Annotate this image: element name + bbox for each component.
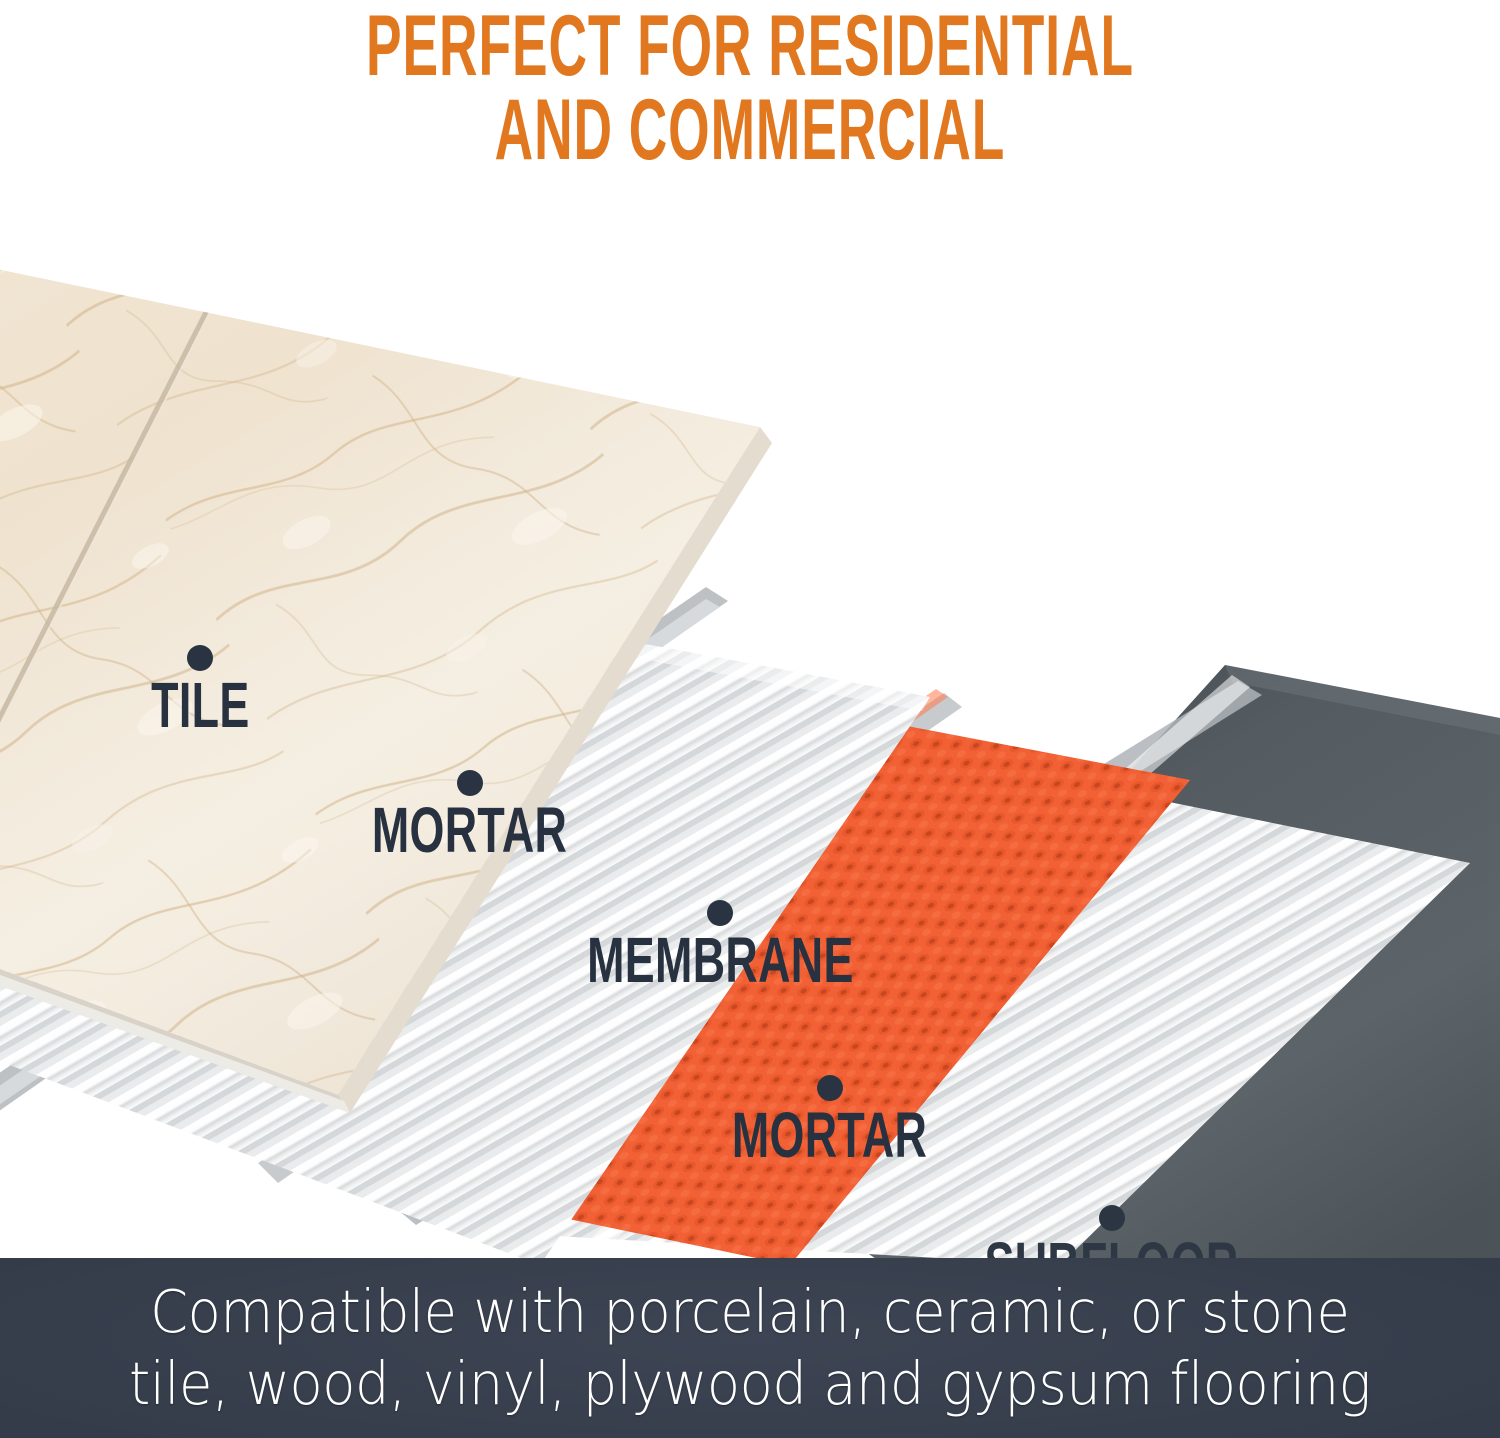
layer-cross-section-diagram: TILE MORTAR MEMBRANE MORTAR SUBFLOOR bbox=[0, 195, 1500, 1265]
label-dot-mortar-lower bbox=[817, 1075, 843, 1101]
label-mortar-upper: MORTAR bbox=[330, 770, 609, 860]
banner-line-1: Compatible with porcelain, ceramic, or s… bbox=[150, 1276, 1349, 1348]
label-subfloor: SUBFLOOR bbox=[930, 1205, 1293, 1265]
label-dot-membrane bbox=[707, 900, 733, 926]
headline-block: PERFECT FOR RESIDENTIAL AND COMMERCIAL bbox=[0, 0, 1500, 173]
banner-line-2: tile, wood, vinyl, plywood and gypsum fl… bbox=[129, 1348, 1371, 1420]
label-tile: TILE bbox=[130, 645, 271, 735]
label-text-mortar-upper: MORTAR bbox=[372, 802, 567, 860]
label-text-membrane: MEMBRANE bbox=[587, 932, 854, 990]
label-dot-subfloor bbox=[1099, 1205, 1125, 1231]
label-text-mortar-lower: MORTAR bbox=[732, 1107, 927, 1165]
headline-line-1: PERFECT FOR RESIDENTIAL bbox=[285, 4, 1215, 88]
label-dot-tile bbox=[187, 645, 213, 671]
label-mortar-lower: MORTAR bbox=[690, 1075, 969, 1165]
headline-line-2: AND COMMERCIAL bbox=[285, 88, 1215, 172]
label-dot-mortar-upper bbox=[457, 770, 483, 796]
label-text-tile: TILE bbox=[151, 677, 249, 735]
compatibility-banner: Compatible with porcelain, ceramic, or s… bbox=[0, 1258, 1500, 1438]
label-membrane: MEMBRANE bbox=[530, 900, 911, 990]
